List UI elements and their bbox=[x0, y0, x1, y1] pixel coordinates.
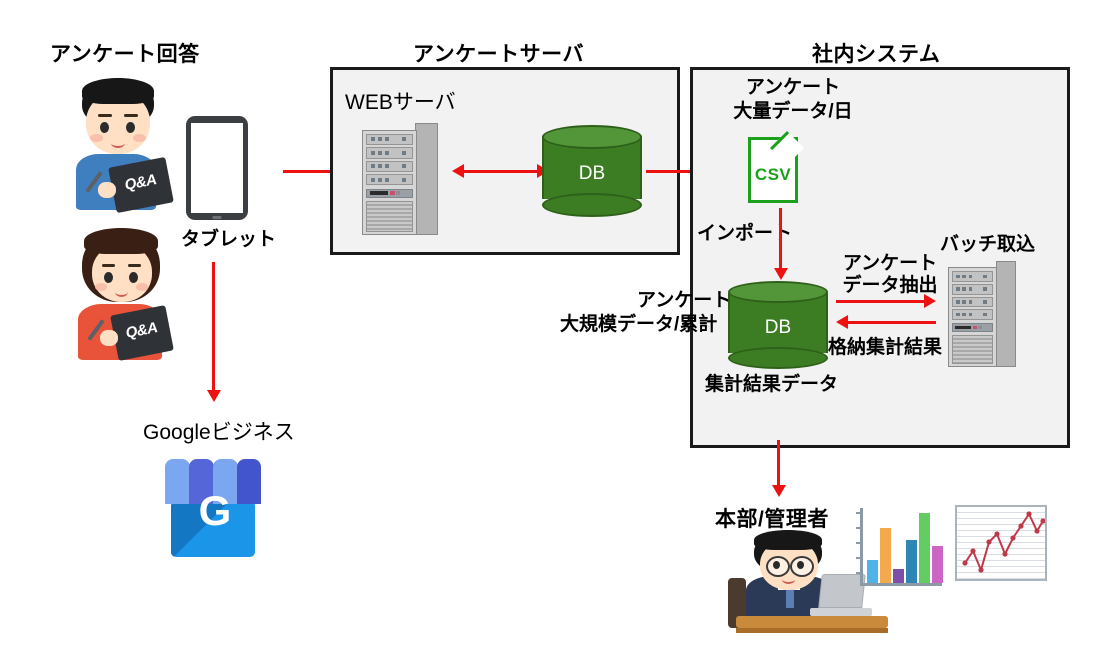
csv-caption-line2: 大量データ/日 bbox=[718, 100, 868, 123]
bar-4 bbox=[906, 540, 917, 583]
summary-bar-chart bbox=[860, 508, 942, 586]
tablet-screen bbox=[191, 123, 243, 213]
qa-tablet-pad-male: Q&A bbox=[108, 157, 174, 213]
tablet-device-label: タブレット bbox=[181, 228, 276, 251]
line-chart-series bbox=[957, 507, 1045, 579]
bar-3 bbox=[893, 569, 904, 583]
csv-caption-line1: アンケート bbox=[718, 76, 868, 99]
import-label: インポート bbox=[697, 222, 792, 245]
headquarters-label: 本部/管理者 bbox=[715, 503, 829, 533]
arrow-tablet-to-google-head bbox=[207, 390, 221, 402]
summary-line-chart bbox=[955, 505, 1047, 581]
arrow-extract-line bbox=[836, 300, 926, 303]
diagram-canvas: アンケート回答 アンケートサーバ 社内システム Q&A bbox=[0, 0, 1100, 655]
db-bottom bbox=[728, 347, 828, 369]
store-result-label: 格納集計結果 bbox=[828, 336, 942, 359]
extract-label-line1: アンケート bbox=[832, 252, 948, 275]
section-title-survey-server: アンケートサーバ bbox=[413, 38, 584, 68]
google-g-glyph: G bbox=[199, 490, 232, 532]
internal-database-icon: DB bbox=[728, 281, 828, 369]
db-top bbox=[542, 125, 642, 149]
tablet-home-button bbox=[213, 216, 222, 219]
bar-chart-y-axis bbox=[860, 508, 863, 586]
tablet-device-icon bbox=[186, 116, 248, 220]
bar-6 bbox=[932, 546, 943, 583]
arrow-store-line bbox=[847, 321, 936, 324]
section-title-respondents: アンケート回答 bbox=[50, 38, 200, 68]
csv-file-icon: CSV bbox=[748, 137, 798, 203]
arrow-extract-head bbox=[924, 294, 936, 308]
server-front-panel bbox=[362, 130, 417, 235]
arrow-import-head bbox=[774, 268, 788, 280]
qa-pad-label: Q&A bbox=[110, 169, 170, 197]
internal-db-caption-line1: アンケート bbox=[637, 289, 731, 312]
bar-1 bbox=[867, 560, 878, 583]
csv-file-label: CSV bbox=[748, 165, 798, 185]
db-top bbox=[728, 281, 828, 303]
batch-server-icon bbox=[948, 261, 1016, 367]
arrow-system-to-hq-head bbox=[772, 485, 786, 497]
bar-2 bbox=[880, 528, 891, 583]
internal-db-caption-line2: 大規模データ/累計 bbox=[560, 313, 717, 336]
respondent-female-illustration: Q&A bbox=[66, 228, 184, 356]
server-side-panel bbox=[996, 261, 1016, 367]
db-bottom bbox=[542, 193, 642, 217]
google-business-label: Googleビジネス bbox=[143, 420, 295, 446]
web-server-icon bbox=[362, 123, 438, 235]
arrow-tablet-to-google-line bbox=[212, 262, 215, 392]
internal-db-label: DB bbox=[728, 317, 828, 339]
arrow-system-to-hq-line bbox=[777, 440, 780, 487]
qa-tablet-pad-female: Q&A bbox=[110, 305, 174, 361]
server-front-panel bbox=[948, 267, 997, 367]
qa-pad-label: Q&A bbox=[112, 317, 170, 344]
bar-5 bbox=[919, 513, 930, 583]
awning-stripe-1 bbox=[165, 459, 190, 504]
awning-stripe-4 bbox=[237, 459, 261, 504]
google-business-storefront-icon: G bbox=[163, 455, 263, 557]
survey-db-label: DB bbox=[542, 163, 642, 185]
batch-server-label: バッチ取込 bbox=[940, 233, 1035, 256]
respondent-male-illustration: Q&A bbox=[62, 78, 180, 206]
section-title-internal-system: 社内システム bbox=[812, 38, 940, 68]
arrow-import-line bbox=[779, 208, 782, 270]
result-data-label: 集計結果データ bbox=[705, 373, 838, 396]
survey-database-icon: DB bbox=[542, 125, 642, 217]
web-server-label: WEBサーバ bbox=[345, 90, 456, 116]
bar-chart-x-axis bbox=[860, 583, 942, 586]
server-side-panel bbox=[415, 123, 438, 235]
arrow-web-db-line bbox=[463, 170, 539, 173]
